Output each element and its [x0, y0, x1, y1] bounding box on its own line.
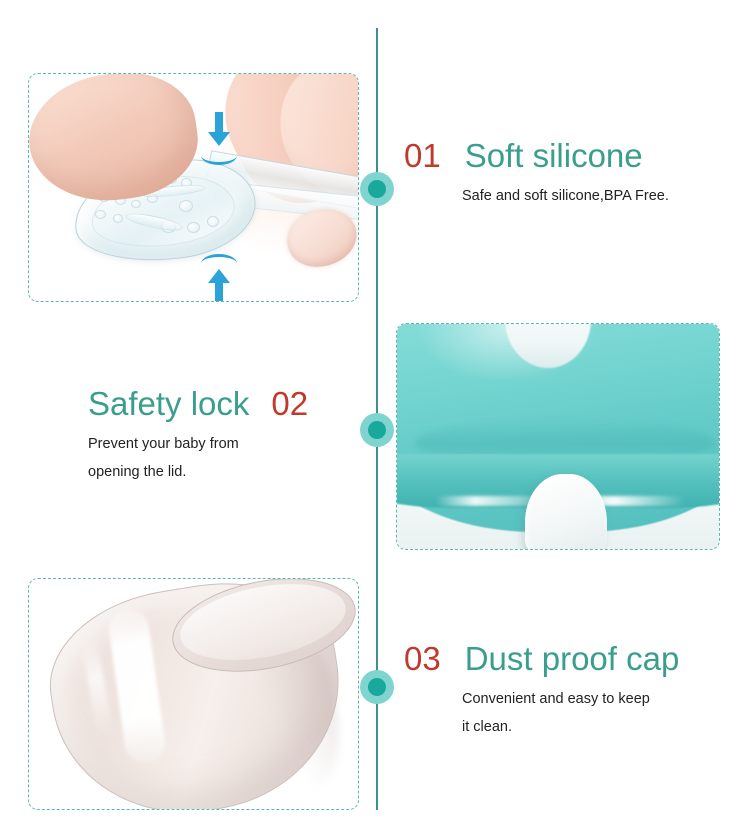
down-arrow-arc	[201, 146, 237, 165]
spoon-texture-bump	[179, 200, 193, 212]
timeline-dot-inner	[368, 180, 386, 198]
feature-title-02: Safety lock	[88, 385, 249, 423]
feature-image-panel-01	[28, 73, 359, 302]
feature-number-02: 02	[271, 385, 308, 423]
description-line: Prevent your baby from	[88, 430, 308, 458]
timeline-dot-02	[360, 413, 394, 447]
feature-number-03: 03	[404, 640, 441, 678]
description-line: it clean.	[462, 713, 679, 741]
feature-number-01: 01	[404, 137, 441, 175]
timeline-dot-03	[360, 670, 394, 704]
description-line: Convenient and easy to keep	[462, 685, 679, 713]
spoon-texture-bump	[207, 216, 219, 227]
description-line: opening the lid.	[88, 458, 308, 486]
clear-silicone-spoon-squeeze-photo	[29, 74, 358, 301]
feature-image-panel-03	[28, 578, 359, 810]
feature-description-01: Safe and soft silicone,BPA Free.	[404, 182, 669, 210]
spoon-texture-bump	[113, 214, 123, 223]
feature-title-03: Dust proof cap	[465, 640, 680, 678]
timeline-dot-inner	[368, 678, 386, 696]
feature-image-panel-02	[396, 323, 720, 550]
feature-description-02: Prevent your baby from opening the lid.	[88, 430, 308, 487]
feature-text-03: 03 Dust proof cap Convenient and easy to…	[404, 640, 679, 742]
spoon-texture-bump	[187, 222, 200, 233]
translucent-dust-proof-cap-photo	[29, 579, 358, 809]
feature-heading-03: 03 Dust proof cap	[404, 640, 679, 678]
feature-text-01: 01 Soft silicone Safe and soft silicone,…	[404, 137, 669, 210]
spoon-texture-bump	[131, 200, 141, 208]
timeline-dot-inner	[368, 421, 386, 439]
feature-heading-02: Safety lock 02	[88, 385, 308, 423]
teal-lid-safety-latch-photo	[397, 324, 719, 549]
feature-text-02: Safety lock 02 Prevent your baby from op…	[88, 385, 308, 487]
up-arrow-icon	[204, 266, 234, 301]
description-line: Safe and soft silicone,BPA Free.	[462, 182, 669, 210]
timeline-dot-01	[360, 172, 394, 206]
feature-infographic-page: 01 Soft silicone Safe and soft silicone,…	[0, 0, 750, 824]
spoon-texture-bump	[95, 210, 106, 219]
feature-heading-01: 01 Soft silicone	[404, 137, 669, 175]
feature-title-01: Soft silicone	[465, 137, 643, 175]
feature-description-03: Convenient and easy to keep it clean.	[404, 685, 679, 742]
